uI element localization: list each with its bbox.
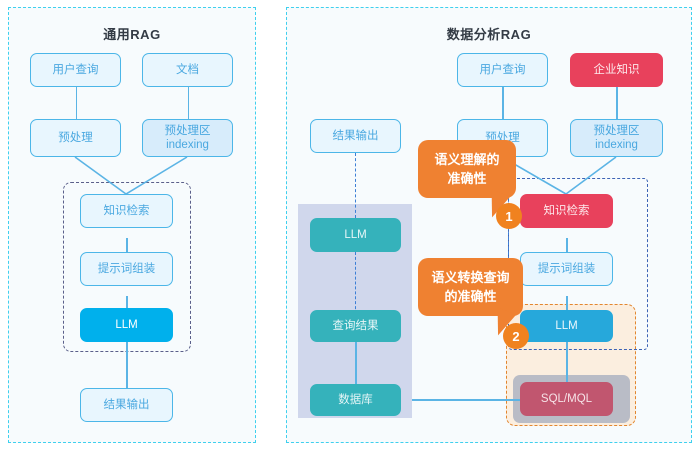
- node-left-result-output[interactable]: 结果输出: [80, 388, 173, 422]
- node-right-retrieval[interactable]: 知识检索: [520, 194, 613, 228]
- connector-qr-db: [355, 342, 357, 388]
- connector-return-2: [355, 252, 356, 314]
- node-left-prompt-assembly[interactable]: 提示词组装: [80, 252, 173, 286]
- connector-r2: [616, 87, 618, 119]
- node-right-llm[interactable]: LLM: [520, 310, 613, 342]
- node-left-user-query[interactable]: 用户查询: [30, 53, 121, 87]
- node-left-indexing[interactable]: 预处理区 indexing: [142, 119, 233, 157]
- node-right-prompt-assembly[interactable]: 提示词组装: [520, 252, 613, 286]
- node-right-user-query[interactable]: 用户查询: [457, 53, 548, 87]
- node-left-document[interactable]: 文档: [142, 53, 233, 87]
- connector-return-1: [355, 153, 356, 218]
- connector-l5: [126, 342, 128, 390]
- callout-2-badge[interactable]: 2: [503, 323, 529, 349]
- node-right-enterprise-knowledge[interactable]: 企业知识: [570, 53, 663, 87]
- connector-l2: [188, 87, 190, 119]
- diagram-canvas: 通用RAG 用户查询 文档 预处理 预处理区 indexing 知识检索 提示词…: [0, 0, 700, 451]
- node-left-llm[interactable]: LLM: [80, 308, 173, 342]
- node-right-database[interactable]: 数据库: [310, 384, 401, 416]
- node-left-retrieval[interactable]: 知识检索: [80, 194, 173, 228]
- callout-1-badge[interactable]: 1: [496, 203, 522, 229]
- callout-2[interactable]: 语义转换查询 的准确性: [418, 258, 523, 316]
- panel-right-title: 数据分析RAG: [287, 24, 691, 43]
- node-right-llm-left[interactable]: LLM: [310, 218, 401, 252]
- callout-1[interactable]: 语义理解的 准确性: [418, 140, 516, 198]
- panel-left-title: 通用RAG: [9, 24, 255, 43]
- connector-l1: [76, 87, 78, 119]
- connector-r1: [502, 87, 504, 119]
- node-right-sql-mql[interactable]: SQL/MQL: [520, 382, 613, 416]
- node-right-query-result[interactable]: 查询结果: [310, 310, 401, 342]
- node-left-preprocess[interactable]: 预处理: [30, 119, 121, 157]
- node-right-indexing[interactable]: 预处理区 indexing: [570, 119, 663, 157]
- connector-db-sql: [412, 399, 526, 401]
- node-right-result-output[interactable]: 结果输出: [310, 119, 401, 153]
